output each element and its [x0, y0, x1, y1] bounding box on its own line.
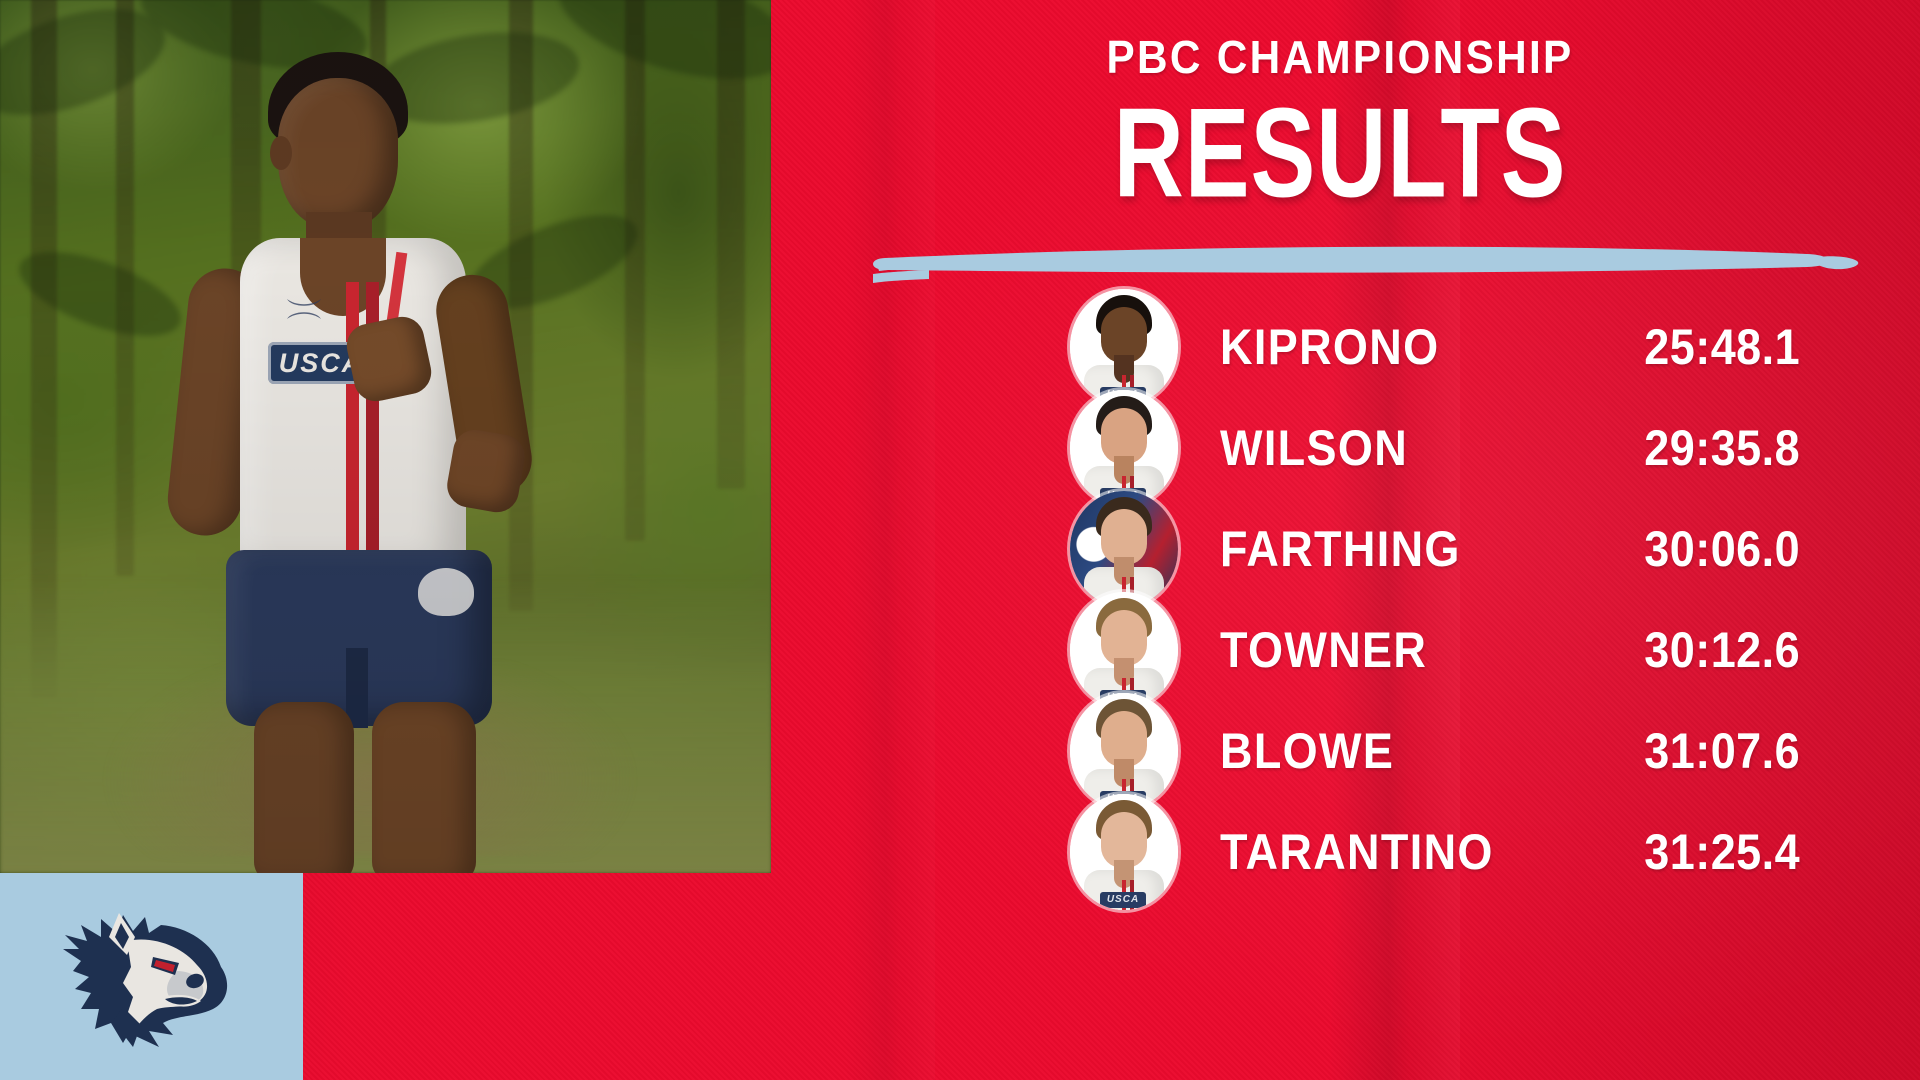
- athlete-name: TOWNER: [1220, 625, 1427, 675]
- hero-photo: USCA: [0, 0, 771, 873]
- athlete-time: 31:25.4: [1644, 827, 1800, 877]
- athlete-time: 25:48.1: [1644, 322, 1800, 372]
- brush-stroke-divider: [855, 240, 1865, 296]
- table-row: FARTHING 30:06.0: [1070, 498, 1800, 599]
- headline-block: PBC CHAMPIONSHIP RESULTS: [830, 34, 1850, 198]
- table-row: USCA BLOWE 31:07.6: [1070, 700, 1800, 801]
- athlete-time: 30:06.0: [1644, 524, 1800, 574]
- table-row: USCA TARANTINO 31:25.4: [1070, 801, 1800, 902]
- usca-pacers-horse-logo-icon: [37, 897, 267, 1057]
- results-list: USCA KIPRONO 25:48.1 USCA WILSON 29:35.8: [1070, 296, 1800, 902]
- event-kicker: PBC CHAMPIONSHIP: [871, 34, 1809, 80]
- page-title: RESULTS: [881, 88, 1799, 218]
- avatar: USCA: [1070, 592, 1178, 708]
- athlete-time: 29:35.8: [1644, 423, 1800, 473]
- athlete-time: 30:12.6: [1644, 625, 1800, 675]
- table-row: USCA TOWNER 30:12.6: [1070, 599, 1800, 700]
- avatar: USCA: [1070, 289, 1178, 405]
- team-logo-panel: [0, 873, 303, 1080]
- athlete-name: WILSON: [1220, 423, 1408, 473]
- athlete-name: FARTHING: [1220, 524, 1461, 574]
- avatar-wordmark: USCA: [1100, 892, 1146, 908]
- athlete-name: TARANTINO: [1220, 827, 1494, 877]
- athlete-time: 31:07.6: [1644, 726, 1800, 776]
- table-row: USCA WILSON 29:35.8: [1070, 397, 1800, 498]
- avatar: USCA: [1070, 794, 1178, 910]
- avatar: USCA: [1070, 693, 1178, 809]
- athlete-name: BLOWE: [1220, 726, 1394, 776]
- athlete-name: KIPRONO: [1220, 322, 1439, 372]
- photo-vignette: [0, 0, 771, 873]
- avatar: USCA: [1070, 390, 1178, 506]
- graphic-canvas: USCA: [0, 0, 1920, 1080]
- avatar: [1070, 491, 1178, 607]
- table-row: USCA KIPRONO 25:48.1: [1070, 296, 1800, 397]
